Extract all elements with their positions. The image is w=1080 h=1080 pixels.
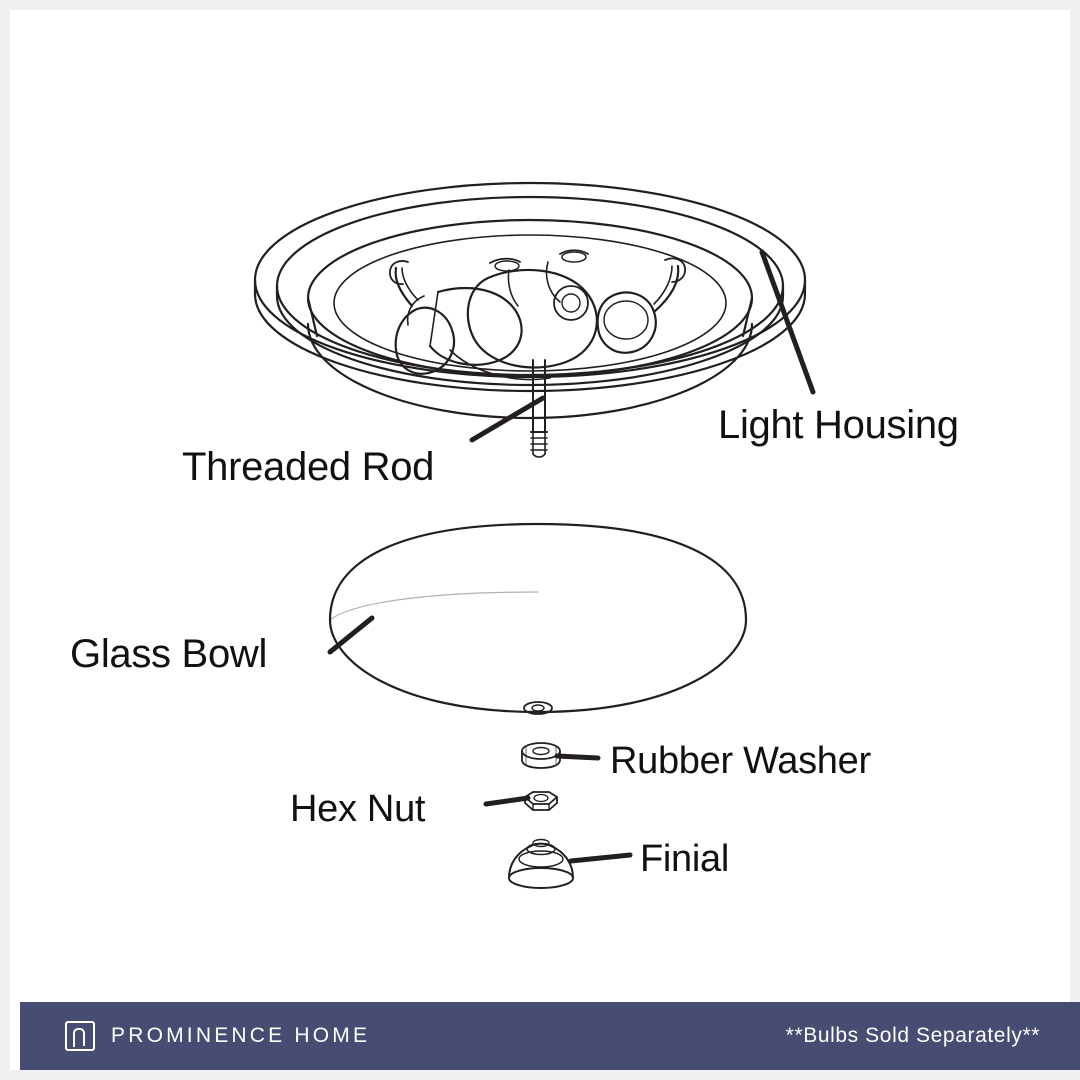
hex-nut-drawing: [525, 792, 557, 810]
label-hex-nut: Hex Nut: [290, 788, 425, 831]
label-finial: Finial: [640, 838, 729, 881]
exploded-diagram-svg: [20, 20, 1080, 1080]
leader-rubber-washer: [557, 756, 598, 758]
brand-name: PROMINENCE HOME: [111, 1024, 370, 1048]
footer-bar: PROMINENCE HOME **Bulbs Sold Separately*…: [20, 1002, 1080, 1070]
label-threaded-rod: Threaded Rod: [182, 445, 434, 490]
finial-drawing: [509, 840, 573, 889]
light-housing-drawing: [255, 183, 805, 418]
leader-finial: [571, 855, 630, 861]
prominence-home-logo-icon: [65, 1021, 95, 1051]
label-glass-bowl: Glass Bowl: [70, 632, 267, 677]
diagram-canvas: Light Housing Threaded Rod Glass Bowl Ru…: [20, 20, 1080, 1080]
leader-hex-nut: [486, 798, 528, 804]
page-frame: Light Housing Threaded Rod Glass Bowl Ru…: [0, 0, 1080, 1080]
label-rubber-washer: Rubber Washer: [610, 740, 871, 783]
label-light-housing: Light Housing: [718, 403, 959, 448]
brand-block: PROMINENCE HOME: [65, 1021, 370, 1051]
rubber-washer-drawing: [522, 743, 560, 768]
glass-bowl-drawing: [330, 524, 746, 714]
leader-glass-bowl: [330, 618, 372, 652]
footer-note: **Bulbs Sold Separately**: [786, 1024, 1040, 1048]
